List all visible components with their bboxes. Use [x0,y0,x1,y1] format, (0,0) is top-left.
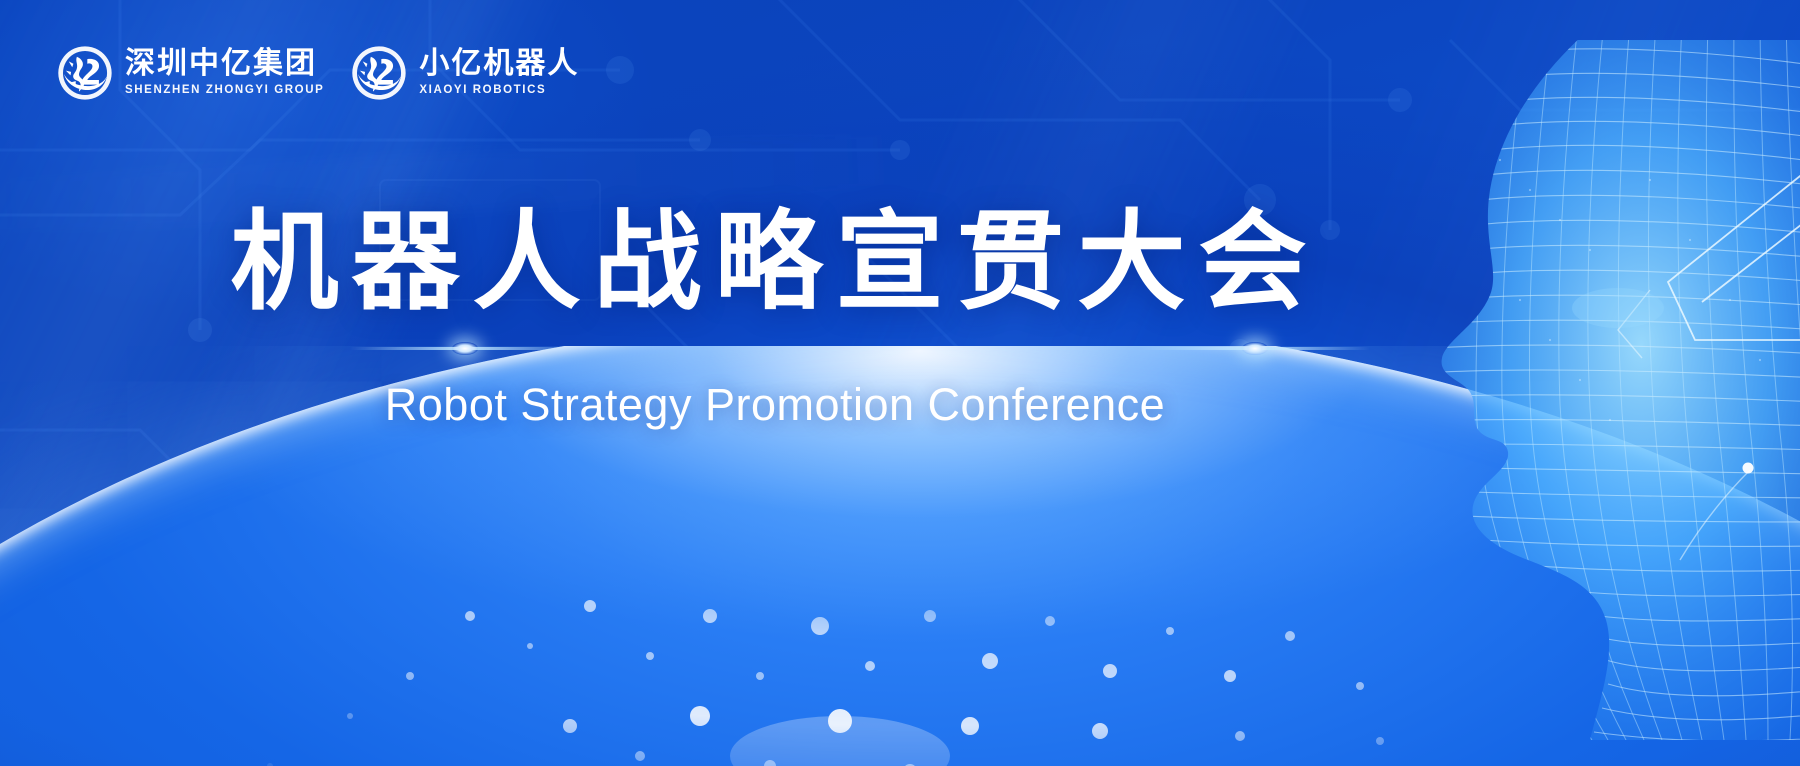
zhongyi-emblem-icon [56,44,114,102]
flare-row [0,331,1550,365]
logo-row: 深圳中亿集团 SHENZHEN ZHONGYI GROUP 小亿机器人 XIAO… [56,44,579,102]
logo-xiaoyi-cn: 小亿机器人 [419,49,579,79]
logo-xiaoyi-en: XIAOYI ROBOTICS [419,85,579,97]
lens-flare-icon-right [1140,347,1370,350]
title-block: 机器人战略宣贯大会 Robot Strategy Promotion Confe… [0,200,1800,431]
logo-zhongyi-en: SHENZHEN ZHONGYI GROUP [125,85,324,97]
logo-zhongyi-text: 深圳中亿集团 SHENZHEN ZHONGYI GROUP [125,49,324,97]
conference-banner: 深圳中亿集团 SHENZHEN ZHONGYI GROUP 小亿机器人 XIAO… [0,0,1800,766]
page-title: 机器人战略宣贯大会 [0,200,1550,325]
logo-xiaoyi[interactable]: 小亿机器人 XIAOYI ROBOTICS [350,44,579,102]
logo-zhongyi[interactable]: 深圳中亿集团 SHENZHEN ZHONGYI GROUP [56,44,324,102]
xiaoyi-emblem-icon [350,44,408,102]
lens-flare-icon-left [350,347,580,350]
page-subtitle: Robot Strategy Promotion Conference [0,379,1550,431]
logo-zhongyi-cn: 深圳中亿集团 [125,49,324,79]
logo-xiaoyi-text: 小亿机器人 XIAOYI ROBOTICS [419,49,579,97]
